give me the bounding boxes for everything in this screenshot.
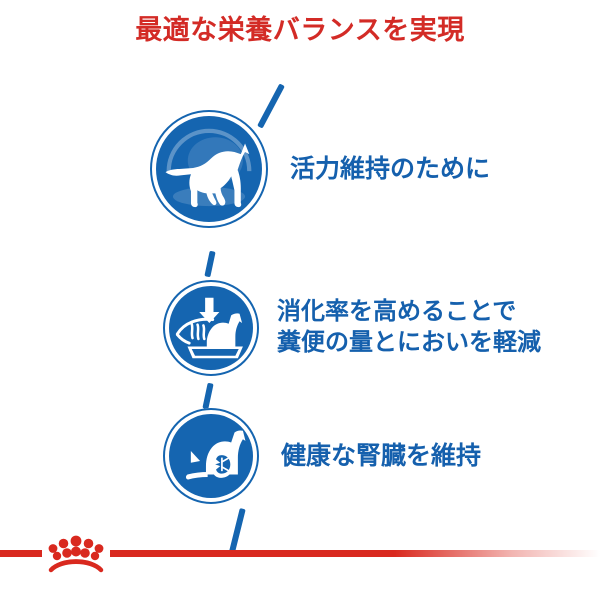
feature-item-digestibility: 消化率を高めることで 糞便の量とにおいを軽減 xyxy=(163,280,541,376)
footer-rule-right xyxy=(110,550,600,557)
feature-label-kidney: 健康な腎臓を維持 xyxy=(281,440,481,472)
feature-item-vitality: 活力維持のために xyxy=(150,110,490,228)
footer-rule-left xyxy=(0,550,42,557)
feature-label-vitality: 活力維持のために xyxy=(290,153,490,185)
brand-footer xyxy=(0,528,600,574)
walking-cat-icon xyxy=(150,110,268,228)
product-feature-panel: 最適な栄養バランスを実現 xyxy=(0,0,600,600)
cat-litter-box-icon xyxy=(163,280,259,376)
circle-disc xyxy=(169,414,253,498)
feature-label-digestibility: 消化率を高めることで 糞便の量とにおいを軽減 xyxy=(277,297,541,358)
circle-disc xyxy=(169,286,253,370)
feature-list: 活力維持のために xyxy=(0,95,600,535)
circle-disc xyxy=(156,116,262,222)
page-title: 最適な栄養バランスを実現 xyxy=(0,14,600,46)
cat-kidney-icon xyxy=(163,408,259,504)
feature-item-kidney: 健康な腎臓を維持 xyxy=(163,408,481,504)
royal-canin-crown-icon xyxy=(44,532,108,574)
